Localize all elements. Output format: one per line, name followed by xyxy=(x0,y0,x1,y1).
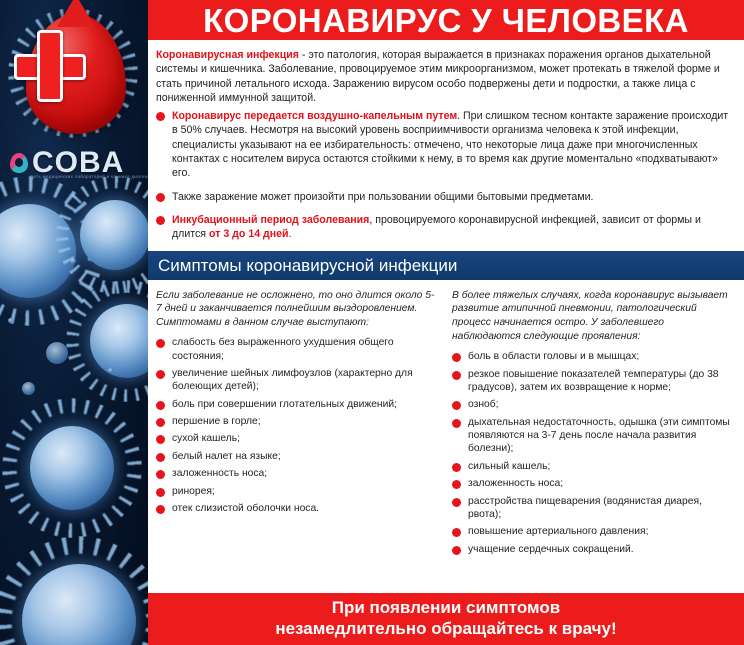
list-item: сухой кашель; xyxy=(156,432,438,445)
list-item: сильный кашель; xyxy=(452,460,734,473)
list-item: заложенность носа; xyxy=(452,477,734,490)
symptoms-column-severe: В более тяжелых случаях, когда коронавир… xyxy=(452,289,734,560)
bullet-dot-icon xyxy=(452,401,461,410)
logo-tagline: Сеть медицинских лабораторий и клинико-д… xyxy=(30,174,148,179)
page-title: КОРОНАВИРУС У ЧЕЛОВЕКА xyxy=(203,4,689,37)
list-item: Также заражение может произойти при поль… xyxy=(156,190,736,204)
virus-particle xyxy=(30,426,114,510)
list-item: повышение артериального давления; xyxy=(452,525,734,538)
symptom-text: повышение артериального давления; xyxy=(468,525,648,538)
list-item: озноб; xyxy=(452,398,734,411)
bullet-body: Также заражение может произойти при поль… xyxy=(172,191,593,203)
bullet-text: Также заражение может произойти при поль… xyxy=(172,190,593,204)
symptom-text: слабость без выраженного ухудшения общег… xyxy=(172,336,438,363)
symptom-text: белый налет на языке; xyxy=(172,450,281,463)
symptom-text: ринорея; xyxy=(172,485,215,498)
bullet-dot-icon xyxy=(156,339,165,348)
bullet-bold-lead: Коронавирус передается воздушно-капельны… xyxy=(172,110,457,122)
list-item: учащение сердечных сокращений. xyxy=(452,543,734,556)
cta-line-1: При появлении симптомов xyxy=(332,598,560,619)
infographic-poster: COBA Сеть медицинских лабораторий и клин… xyxy=(0,0,744,645)
bullet-text: Инкубационный период заболевания, провоц… xyxy=(172,213,736,242)
transmission-bullet-list: Коронавирус передается воздушно-капельны… xyxy=(148,105,744,241)
title-banner: КОРОНАВИРУС У ЧЕЛОВЕКА xyxy=(148,0,744,40)
bullet-dot-icon xyxy=(156,370,165,379)
virus-speck xyxy=(70,258,76,264)
bullet-dot-icon xyxy=(156,418,165,427)
symptom-text: увеличение шейных лимфоузлов (характерно… xyxy=(172,367,438,394)
list-item: ринорея; xyxy=(156,485,438,498)
virus-speck xyxy=(22,382,35,395)
list-item: резкое повышение показателей температуры… xyxy=(452,368,734,395)
symptom-text: расстройства пищеварения (водянистая диа… xyxy=(468,495,734,522)
logo-mark-icon xyxy=(10,153,28,173)
symptom-text: заложенность носа; xyxy=(172,467,267,480)
list-item: белый налет на языке; xyxy=(156,450,438,463)
bullet-dot-icon xyxy=(156,193,165,202)
virus-speck xyxy=(108,368,113,373)
sidebar-virus-imagery: COBA Сеть медицинских лабораторий и клин… xyxy=(0,0,148,645)
section-title: Симптомы коронавирусной инфекции xyxy=(158,257,457,274)
bullet-bold-tail: от 3 до 14 дней xyxy=(209,228,289,240)
medical-cross-icon xyxy=(14,30,86,102)
bullet-bold-lead: Инкубационный период заболевания xyxy=(172,214,369,226)
column-lead-text: Если заболевание не осложнено, то оно дл… xyxy=(156,289,438,331)
symptom-text: отек слизистой оболочки носа. xyxy=(172,502,319,515)
symptoms-columns: Если заболевание не осложнено, то оно дл… xyxy=(148,280,744,560)
bullet-dot-icon xyxy=(156,216,165,225)
bullet-dot-icon xyxy=(452,528,461,537)
list-item: Коронавирус передается воздушно-капельны… xyxy=(156,109,736,180)
bullet-dot-icon xyxy=(156,435,165,444)
intro-lead-term: Коронавирусная инфекция xyxy=(156,49,299,61)
cross-vertical-bar xyxy=(37,30,63,102)
bullet-dot-icon xyxy=(156,401,165,410)
cta-line-2: незамедлительно обращайтесь к врачу! xyxy=(275,619,616,640)
list-item: боль в области головы и в мышцах; xyxy=(452,350,734,363)
symptoms-section-header: Симптомы коронавирусной инфекции xyxy=(148,251,744,280)
bullet-text: Коронавирус передается воздушно-капельны… xyxy=(172,109,736,180)
bullet-dot-icon xyxy=(452,463,461,472)
list-item: боль при совершении глотательных движени… xyxy=(156,398,438,411)
symptom-text: резкое повышение показателей температуры… xyxy=(468,368,734,395)
column-lead-text: В более тяжелых случаях, когда коронавир… xyxy=(452,289,734,345)
list-item: расстройства пищеварения (водянистая диа… xyxy=(452,495,734,522)
brand-logo: COBA Сеть медицинских лабораторий и клин… xyxy=(8,8,140,193)
bullet-tail-end: . xyxy=(289,228,292,240)
bullet-dot-icon xyxy=(452,546,461,555)
symptom-text: сильный кашель; xyxy=(468,460,550,473)
bullet-dot-icon xyxy=(156,112,165,121)
symptom-text: дыхательная недостаточность, одышка (эти… xyxy=(468,416,734,456)
symptom-text: боль в области головы и в мышцах; xyxy=(468,350,639,363)
bullet-dot-icon xyxy=(156,470,165,479)
symptom-text: сухой кашель; xyxy=(172,432,240,445)
symptom-text: першение в горле; xyxy=(172,415,261,428)
list-item: слабость без выраженного ухудшения общег… xyxy=(156,336,438,363)
bullet-dot-icon xyxy=(156,505,165,514)
bullet-dot-icon xyxy=(452,371,461,380)
symptom-text: боль при совершении глотательных движени… xyxy=(172,398,397,411)
call-to-action-banner: При появлении симптомов незамедлительно … xyxy=(148,593,744,645)
bullet-dot-icon xyxy=(452,353,461,362)
main-content: КОРОНАВИРУС У ЧЕЛОВЕКА Коронавирусная ин… xyxy=(148,0,744,645)
bullet-dot-icon xyxy=(452,498,461,507)
symptom-text: озноб; xyxy=(468,398,499,411)
symptom-text: заложенность носа; xyxy=(468,477,563,490)
list-item: першение в горле; xyxy=(156,415,438,428)
symptoms-column-mild: Если заболевание не осложнено, то оно дл… xyxy=(156,289,438,560)
bullet-dot-icon xyxy=(452,480,461,489)
bullet-dot-icon xyxy=(156,453,165,462)
list-item: отек слизистой оболочки носа. xyxy=(156,502,438,515)
list-item: увеличение шейных лимфоузлов (характерно… xyxy=(156,367,438,394)
intro-paragraph: Коронавирусная инфекция - это патология,… xyxy=(148,40,744,105)
list-item: Инкубационный период заболевания, провоц… xyxy=(156,213,736,242)
list-item: заложенность носа; xyxy=(156,467,438,480)
virus-speck xyxy=(46,342,68,364)
virus-particle xyxy=(80,200,148,270)
virus-speck xyxy=(8,318,13,323)
bullet-dot-icon xyxy=(452,419,461,428)
symptom-text: учащение сердечных сокращений. xyxy=(468,543,634,556)
bullet-dot-icon xyxy=(156,488,165,497)
list-item: дыхательная недостаточность, одышка (эти… xyxy=(452,416,734,456)
